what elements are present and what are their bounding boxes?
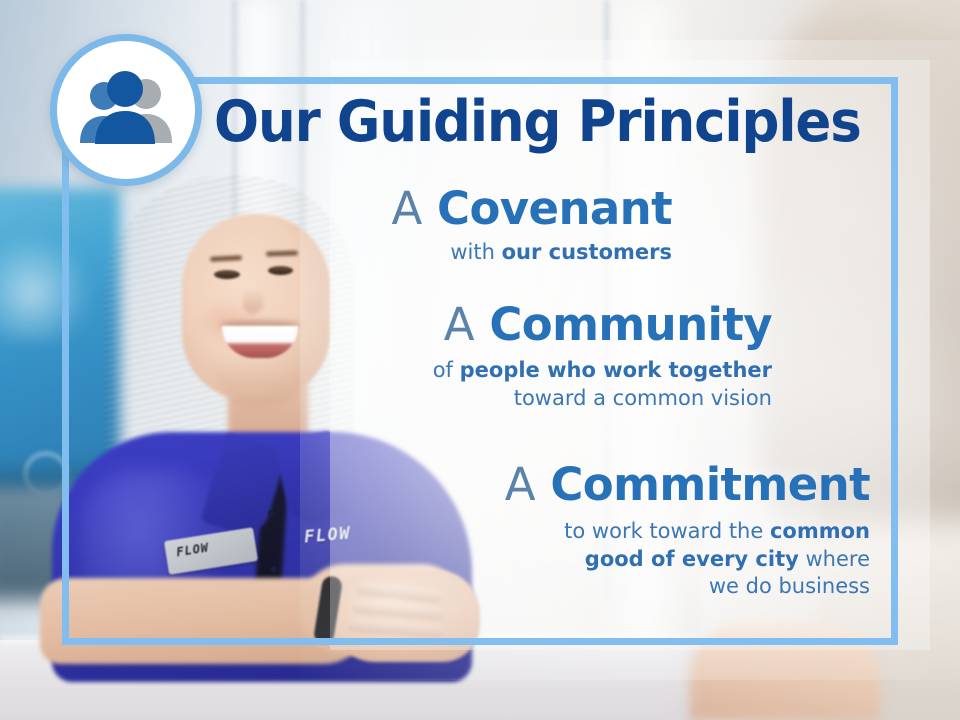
principle-description: to work toward the commongood of every c…	[380, 518, 870, 601]
woman-eye-right	[268, 266, 293, 275]
principle-keyword: Commitment	[550, 458, 870, 511]
principle-heading: A Covenant	[300, 186, 672, 233]
woman-nose	[243, 288, 263, 314]
poster-car-image	[0, 232, 92, 342]
principle-heading: A Commitment	[380, 462, 870, 509]
principle-article: A	[391, 182, 422, 235]
principle-covenant: A Covenant with our customers	[300, 186, 672, 267]
emphasis-text: our customers	[502, 240, 672, 264]
shirt-button	[268, 510, 275, 517]
woman-eye-left	[214, 270, 240, 279]
people-badge	[50, 34, 202, 186]
poster: FLOW FLOW	[0, 0, 960, 720]
people-group-icon	[74, 71, 178, 149]
plain-text: with	[450, 240, 501, 264]
plain-text: where	[799, 547, 870, 571]
principle-article: A	[444, 298, 475, 351]
plain-text: we do business	[709, 574, 870, 598]
principle-commitment: A Commitment to work toward the commongo…	[380, 462, 870, 601]
emphasis-text: common	[770, 519, 870, 543]
emphasis-text: good of every city	[585, 547, 799, 571]
principle-heading: A Community	[340, 302, 772, 349]
principle-article: A	[505, 458, 536, 511]
principle-community: A Community of people who work togethert…	[340, 302, 772, 412]
plain-text: of	[433, 358, 460, 382]
plain-text: to work toward the	[564, 519, 770, 543]
customer-hand	[690, 624, 880, 720]
page-title: Our Guiding Principles	[214, 94, 828, 151]
principle-keyword: Community	[489, 298, 772, 351]
plain-text: toward a common vision	[514, 386, 772, 410]
shirt-button	[270, 566, 277, 573]
principle-keyword: Covenant	[437, 182, 672, 235]
emphasis-text: people who work together	[460, 358, 772, 382]
principle-description: of people who work togethertoward a comm…	[340, 357, 772, 412]
principle-description: with our customers	[300, 239, 672, 267]
